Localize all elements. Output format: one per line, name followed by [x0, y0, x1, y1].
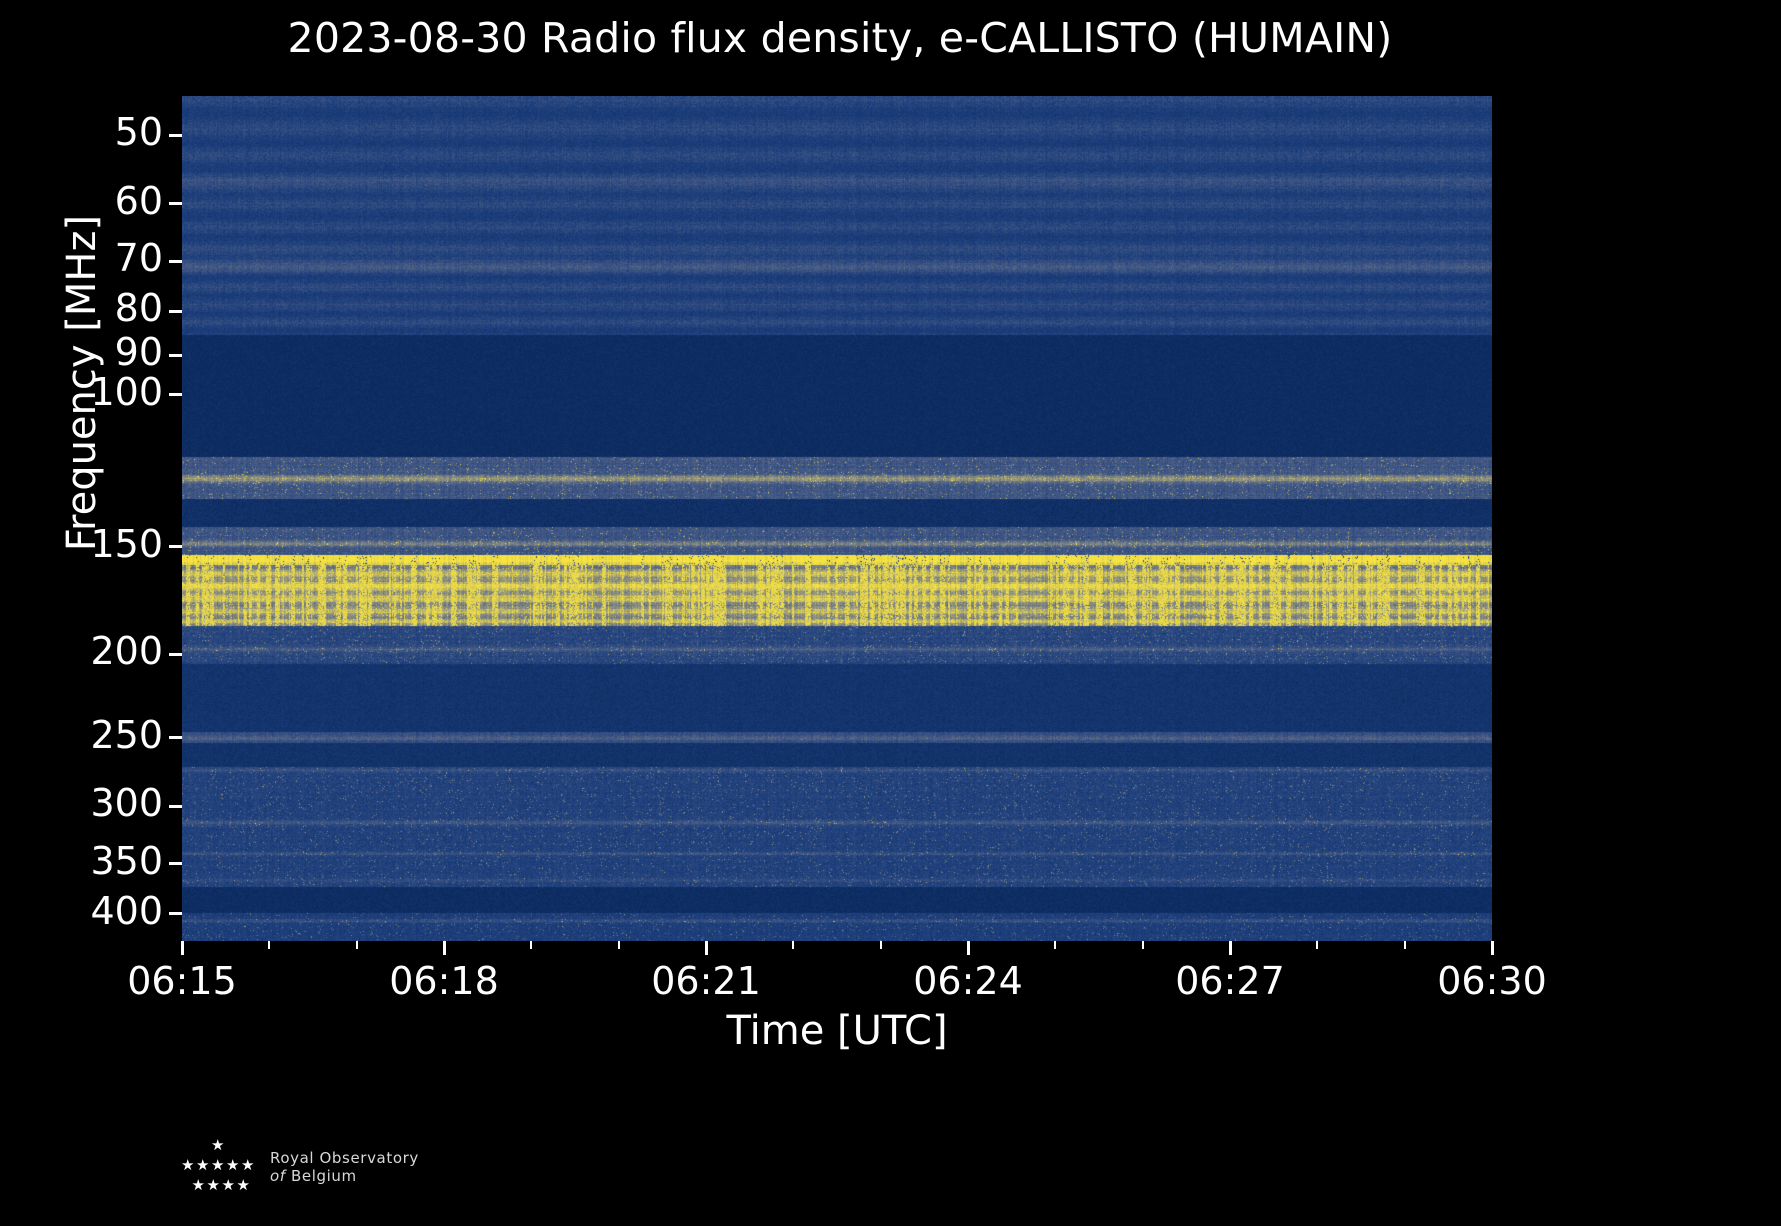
y-tick-200 [169, 653, 182, 656]
logo-belgium-word: Belgium [291, 1167, 357, 1185]
y-ticklabel-60: 60 [115, 182, 163, 220]
logo-line-1: Royal Observatory [270, 1149, 419, 1167]
x-minor-tick [1142, 941, 1144, 949]
y-tick-80 [169, 310, 182, 313]
y-ticklabel-50: 50 [115, 113, 163, 151]
star-icon: ★ [196, 1158, 209, 1173]
x-minor-tick [880, 941, 882, 949]
y-tick-60 [169, 202, 182, 205]
x-tick-0624 [967, 941, 970, 955]
x-minor-tick [530, 941, 532, 949]
y-tick-70 [169, 260, 182, 263]
logo-line-2: of Belgium [270, 1167, 419, 1185]
star-icon: ★ [222, 1178, 235, 1193]
stars-icon: ★★★★★★★★★★ [178, 1136, 260, 1198]
x-ticklabel-0627: 06:27 [1175, 962, 1285, 1000]
star-icon: ★ [211, 1158, 224, 1173]
x-axis-title: Time [UTC] [182, 1008, 1492, 1054]
star-icon: ★ [237, 1178, 250, 1193]
x-minor-tick [792, 941, 794, 949]
spectrogram-figure: 2023-08-30 Radio flux density, e-CALLIST… [0, 0, 1781, 1226]
y-tick-250 [169, 736, 182, 739]
x-tick-0615 [181, 941, 184, 955]
y-tick-350 [169, 862, 182, 865]
y-ticklabel-70: 70 [115, 239, 163, 277]
x-ticklabel-0615: 06:15 [127, 962, 237, 1000]
x-tick-0618 [443, 941, 446, 955]
x-ticklabel-0618: 06:18 [389, 962, 499, 1000]
page-title: 2023-08-30 Radio flux density, e-CALLIST… [0, 14, 1680, 62]
star-icon: ★ [181, 1158, 194, 1173]
y-ticklabel-90: 90 [115, 333, 163, 371]
x-minor-tick [1404, 941, 1406, 949]
x-ticklabel-0624: 06:24 [913, 962, 1023, 1000]
x-minor-tick [356, 941, 358, 949]
y-tick-300 [169, 805, 182, 808]
logo-text: Royal Observatory of Belgium [270, 1149, 419, 1186]
y-tick-150 [169, 545, 182, 548]
star-icon: ★ [207, 1178, 220, 1193]
x-tick-0630 [1491, 941, 1494, 955]
y-tick-400 [169, 912, 182, 915]
star-icon: ★ [192, 1178, 205, 1193]
royal-observatory-logo: ★★★★★★★★★★ Royal Observatory of Belgium [178, 1136, 419, 1198]
plot-area[interactable] [182, 96, 1492, 941]
x-tick-0621 [705, 941, 708, 955]
y-axis-title: Frequency [MHz] [59, 73, 105, 693]
x-minor-tick [618, 941, 620, 949]
x-tick-0627 [1229, 941, 1232, 955]
logo-of-word: of [270, 1167, 286, 1185]
star-icon: ★ [241, 1158, 254, 1173]
x-ticklabel-0630: 06:30 [1437, 962, 1547, 1000]
y-ticklabel-300: 300 [90, 784, 163, 822]
spectrogram-heatmap[interactable] [182, 96, 1492, 941]
star-icon: ★ [226, 1158, 239, 1173]
y-tick-90 [169, 354, 182, 357]
x-minor-tick [1054, 941, 1056, 949]
y-ticklabel-80: 80 [115, 289, 163, 327]
x-minor-tick [1316, 941, 1318, 949]
y-tick-100 [169, 393, 182, 396]
x-ticklabel-0621: 06:21 [651, 962, 761, 1000]
y-ticklabel-250: 250 [90, 716, 163, 754]
y-ticklabel-400: 400 [90, 892, 163, 930]
x-minor-tick [268, 941, 270, 949]
y-tick-50 [169, 134, 182, 137]
y-ticklabel-350: 350 [90, 842, 163, 880]
star-icon: ★ [211, 1138, 224, 1153]
